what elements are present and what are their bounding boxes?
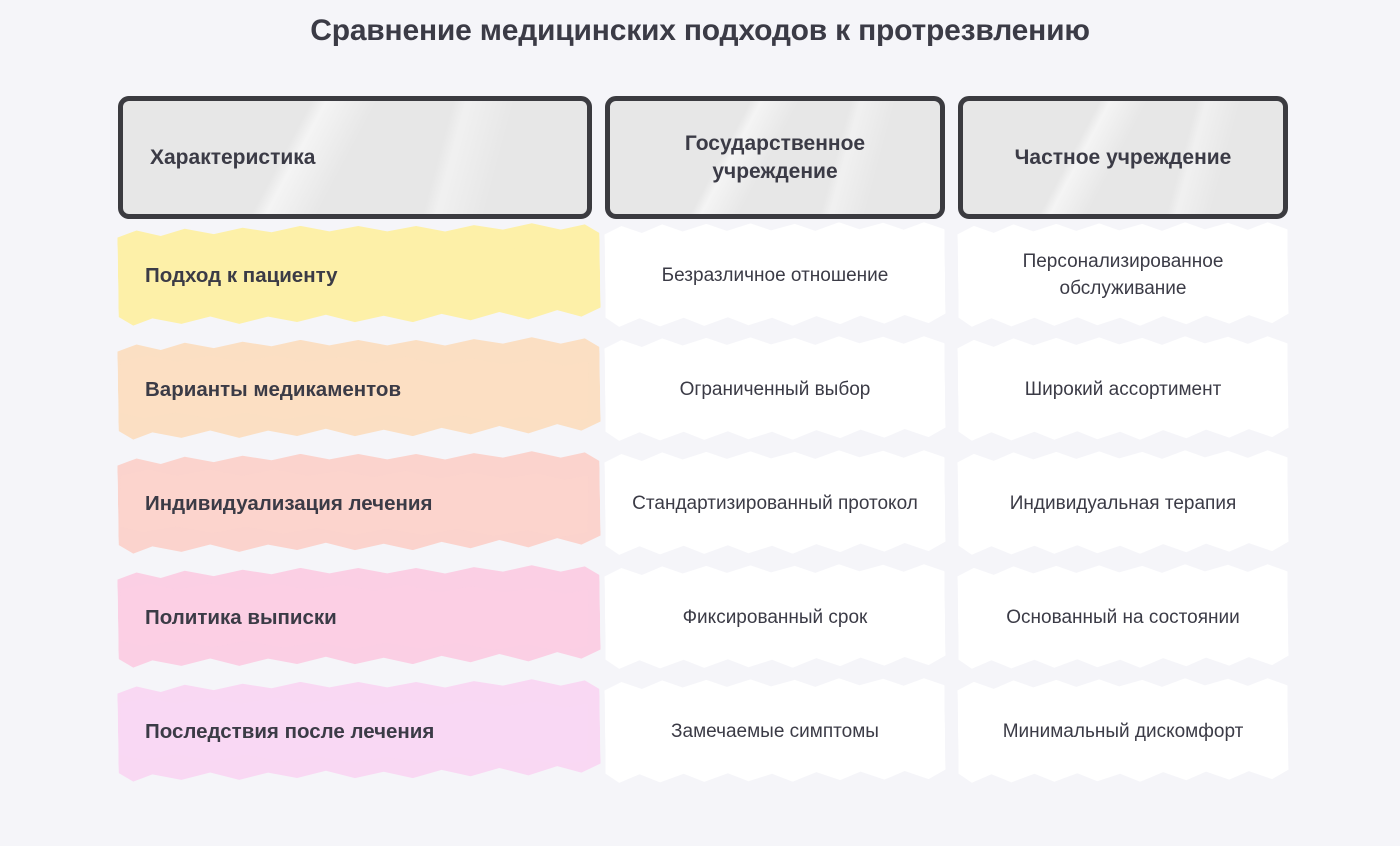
row-feature-label: Политика выписки [118, 561, 592, 675]
table-row: Последствия после лечения Замечаемые сим… [118, 675, 1288, 789]
column-header-public: Государственное учреждение [605, 96, 945, 219]
row-public-text: Ограниченный выбор [680, 377, 871, 404]
page-title: Сравнение медицинских подходов к протрез… [0, 14, 1400, 48]
table-row: Политика выписки Фиксированный срок Осно… [118, 561, 1288, 675]
row-private-cell: Индивидуальная терапия [958, 447, 1288, 561]
column-header-public-label: Государственное учреждение [624, 130, 926, 185]
column-gap [945, 333, 958, 447]
row-private-cell: Широкий ассортимент [958, 333, 1288, 447]
table-row: Подход к пациенту Безразличное отношение… [118, 219, 1288, 333]
row-feature-label: Индивидуализация лечения [118, 447, 592, 561]
row-private-text: Минимальный дискомфорт [1003, 719, 1244, 746]
row-public-cell: Стандартизированный протокол [605, 447, 945, 561]
column-gap [592, 96, 605, 219]
row-public-cell: Замечаемые симптомы [605, 675, 945, 789]
row-private-cell: Персонализированное обслуживание [958, 219, 1288, 333]
row-public-cell: Фиксированный срок [605, 561, 945, 675]
table-row: Варианты медикаментов Ограниченный выбор… [118, 333, 1288, 447]
row-public-text: Замечаемые симптомы [671, 719, 879, 746]
row-private-text: Основанный на состоянии [1006, 605, 1240, 632]
row-feature-text: Политика выписки [145, 604, 337, 631]
row-feature-text: Варианты медикаментов [145, 376, 401, 403]
row-public-text: Безразличное отношение [662, 263, 889, 290]
row-public-cell: Безразличное отношение [605, 219, 945, 333]
table-row: Индивидуализация лечения Стандартизирова… [118, 447, 1288, 561]
row-private-text: Широкий ассортимент [1025, 377, 1222, 404]
column-header-private: Частное учреждение [958, 96, 1288, 219]
column-gap [945, 675, 958, 789]
column-gap [945, 219, 958, 333]
column-header-feature: Характеристика [118, 96, 592, 219]
row-private-cell: Основанный на состоянии [958, 561, 1288, 675]
row-feature-label: Варианты медикаментов [118, 333, 592, 447]
row-private-cell: Минимальный дискомфорт [958, 675, 1288, 789]
column-header-feature-label: Характеристика [150, 144, 315, 172]
column-header-private-label: Частное учреждение [1015, 144, 1232, 172]
row-public-text: Фиксированный срок [683, 605, 868, 632]
column-gap [945, 447, 958, 561]
table-header-row: Характеристика Государственное учреждени… [118, 96, 1288, 219]
row-feature-text: Последствия после лечения [145, 718, 434, 745]
row-feature-label: Подход к пациенту [118, 219, 592, 333]
comparison-table: Характеристика Государственное учреждени… [118, 96, 1288, 789]
column-gap [945, 96, 958, 219]
row-private-text: Персонализированное обслуживание [974, 249, 1272, 303]
row-feature-text: Подход к пациенту [145, 262, 338, 289]
row-public-text: Стандартизированный протокол [632, 491, 918, 518]
row-feature-text: Индивидуализация лечения [145, 490, 432, 517]
row-feature-label: Последствия после лечения [118, 675, 592, 789]
column-gap [945, 561, 958, 675]
row-private-text: Индивидуальная терапия [1010, 491, 1237, 518]
row-public-cell: Ограниченный выбор [605, 333, 945, 447]
